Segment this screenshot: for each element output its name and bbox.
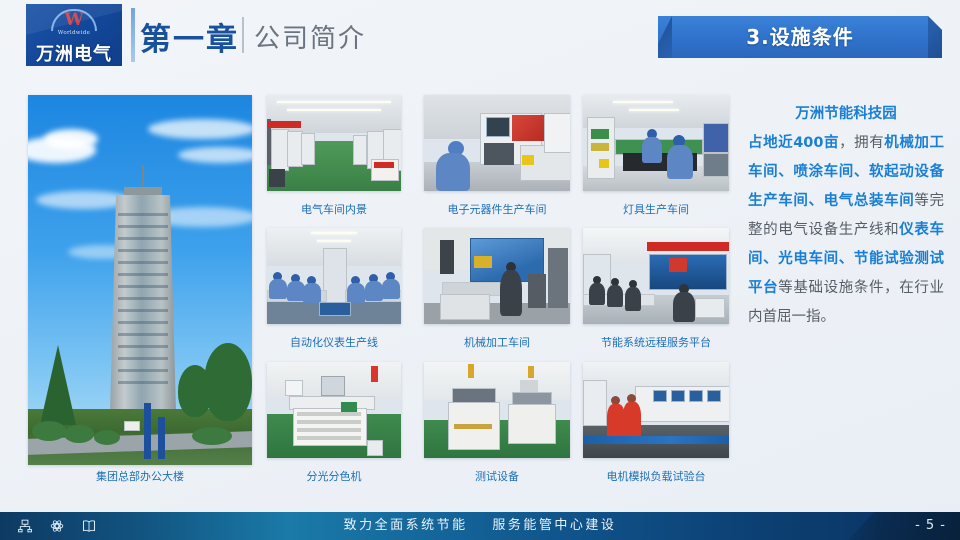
section-badge-label: 3.设施条件 [658,16,942,58]
slide-footer: 致力全面系统节能 服务能管中心建设 - 5 - [0,512,960,540]
gallery-photo-3 [267,228,401,324]
gallery-photo-7 [424,362,570,458]
gallery-caption-5: 节能系统远程服务平台 [583,334,729,350]
gallery-caption-8: 电机模拟负载试验台 [583,468,729,484]
slide-header: W Worldwide 万洲电气 第一章 公司简介 3.设施条件 [0,0,960,84]
description-segment-1: 占地近400亩 [748,135,839,151]
description-segment-6: 等基础设施条件，在行业内首屈一指。 [748,280,944,325]
description-segment-0: 万洲节能科技园 [748,100,944,129]
gallery-caption-4: 机械加工车间 [424,334,570,350]
gallery-photo-1 [424,95,570,191]
hero-photo-headquarters [28,95,252,465]
gallery-photo-5 [583,228,729,324]
chapter-title: 第一章 [140,14,239,59]
logo-w-emblem-icon: W [51,9,97,31]
gallery-photo-0 [267,95,401,191]
chapter-separator [242,17,244,53]
section-description-text: 万洲节能科技园占地近400亩，拥有机械加工车间、喷涂车间、软起动设备生产车间、电… [748,100,944,332]
gallery-photo-8 [583,362,729,458]
footer-slogan: 致力全面系统节能 服务能管中心建设 [0,512,960,540]
gallery-caption-0: 电气车间内景 [267,201,401,217]
header-divider [131,8,135,62]
chapter-subtitle: 公司简介 [254,18,366,55]
logo-latin-text: Worldwide [26,30,122,36]
gallery-photo-2 [583,95,729,191]
page-number: - 5 - [915,512,946,540]
hero-photo-caption: 集团总部办公大楼 [28,468,252,484]
footer-slogan-right: 服务能管中心建设 [492,518,616,533]
company-logo: W Worldwide 万洲电气 [26,4,122,66]
gallery-caption-7: 测试设备 [424,468,570,484]
gallery-caption-6: 分光分色机 [267,468,401,484]
gallery-caption-2: 灯具生产车间 [583,201,729,217]
logo-company-name: 万洲电气 [26,40,122,66]
description-segment-2: ，拥有 [839,135,884,151]
logo-emblem-letter: W [51,11,97,29]
gallery-photo-4 [424,228,570,324]
gallery-photo-6 [267,362,401,458]
section-badge: 3.设施条件 [658,16,942,58]
gallery-caption-3: 自动化仪表生产线 [267,334,401,350]
slide-canvas: W Worldwide 万洲电气 第一章 公司简介 3.设施条件 [0,0,960,540]
gallery-caption-1: 电子元器件生产车间 [424,201,570,217]
footer-slogan-left: 致力全面系统节能 [344,518,468,533]
